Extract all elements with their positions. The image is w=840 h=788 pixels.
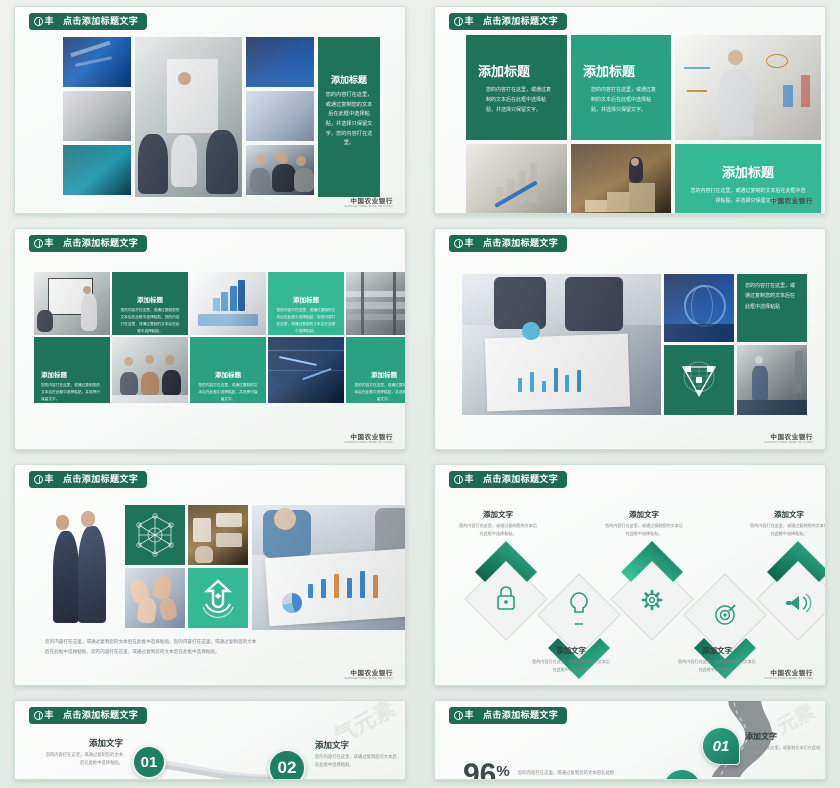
title-badge[interactable]: 丰 点击添加标题文字 bbox=[29, 235, 147, 252]
logo-char: 丰 bbox=[464, 711, 473, 720]
abc-bank-logo: 丰 bbox=[29, 471, 59, 488]
photo-whiteboard-sketch bbox=[675, 35, 821, 140]
card-body: 您的内容打在这里，或通过复制您的文本后在此框中选择粘贴，并选择只保留文字。 bbox=[41, 382, 103, 403]
slide-5-wrap: 丰 点击添加标题文字 bbox=[0, 458, 420, 694]
step-01-badge[interactable]: 01 bbox=[132, 745, 166, 779]
footer-cn: 中国农业银行 bbox=[765, 195, 813, 205]
footer-en: AGRICULTURAL BANK OF CHINA bbox=[345, 205, 393, 208]
label-body: 您的内容打在这里，或通过复制您的文本后在此框中选择粘贴。 bbox=[750, 522, 826, 537]
photo-presenter-meeting bbox=[135, 37, 242, 197]
photo-hand-city-tablet bbox=[246, 91, 314, 141]
step-01-text[interactable]: 添加文字 您的内容打在这里，或通过复制您的文本后在此框中选择粘贴。 bbox=[45, 737, 123, 767]
logo-char: 丰 bbox=[44, 17, 53, 26]
logo-ring-icon bbox=[34, 239, 43, 248]
card-title: 添加标题 bbox=[41, 369, 103, 379]
title-badge[interactable]: 丰 点击添加标题文字 bbox=[449, 13, 567, 30]
icon-abc-logo[interactable] bbox=[188, 568, 248, 628]
slide-title: 点击添加标题文字 bbox=[59, 235, 147, 252]
card-body: 您的内容打在这里，或通过复制的文本后在此框中选择粘贴，并选择只保留文字。 bbox=[478, 86, 555, 115]
label-body: 您的内容打在这里，或通过复制您的文本后在此框中选择粘贴。 bbox=[678, 658, 756, 673]
abc-logo-icon bbox=[196, 576, 240, 620]
label-3[interactable]: 添加文字 您的内容打在这里，或通过复制您的文本后在此框中选择粘贴。 bbox=[605, 509, 683, 537]
footer-en: AGRICULTURAL BANK OF CHINA bbox=[765, 205, 813, 208]
photo-worker-factory bbox=[737, 345, 807, 415]
slide-3[interactable]: 丰 点击添加标题文字 添加标题 您的内容打在这里，或通过复制您的文本后在此框中选… bbox=[14, 228, 406, 450]
card-title-1[interactable]: 添加标题 您的内容打在这里，或通过复制的文本后在此框中选择粘贴，并选择只保留文字… bbox=[466, 35, 567, 140]
slide-3-wrap: 丰 点击添加标题文字 添加标题 您的内容打在这里，或通过复制您的文本后在此框中选… bbox=[0, 222, 420, 458]
stat-unit: % bbox=[496, 763, 509, 780]
footer-cn: 中国农业银行 bbox=[345, 667, 393, 677]
logo-ring-icon bbox=[34, 17, 43, 26]
photo-desk-charts-meeting bbox=[462, 274, 661, 415]
step-title: 添加文字 bbox=[45, 737, 123, 749]
slide-5[interactable]: 丰 点击添加标题文字 bbox=[14, 464, 406, 686]
slide-1-wrap: 丰 点击添加标题文字 bbox=[0, 0, 420, 222]
photo-arrow-chart-blue bbox=[246, 37, 314, 87]
card-title-b[interactable]: 添加标题 您的内容打在这里，或通过复制的文本后在此框中选择粘贴，您的内容打在这里… bbox=[268, 272, 344, 335]
label-title: 添加文字 bbox=[532, 645, 610, 656]
logo-ring-icon bbox=[34, 475, 43, 484]
footer-cn: 中国农业银行 bbox=[345, 195, 393, 205]
icon-network-hex[interactable] bbox=[125, 505, 185, 565]
card-title-a[interactable]: 添加标题 您的内容打在这里，或通过复制您的文本后在此框中选择粘贴，您的内容打在这… bbox=[112, 272, 188, 335]
card-title-e[interactable]: 添加标题 您的内容打在这里，或通过复制的文本后在此框中选择粘贴，并选择只保留文字… bbox=[346, 337, 406, 403]
slide-8-wrap: 丰 点击添加标题文字 01 添加文字 您的内容打在这里，或复制文本后在此粘贴。 … bbox=[420, 694, 840, 788]
logo-char: 丰 bbox=[44, 711, 53, 720]
slide-deck-page: 丰 点击添加标题文字 bbox=[0, 0, 840, 788]
card-title: 添加标题 bbox=[197, 369, 259, 379]
card-body: 您的内容打在这里，或通过复制您的文本后在此框中选择粘贴，您的内容打在这里，或通过… bbox=[119, 307, 181, 335]
label-4[interactable]: 添加文字 您的内容打在这里，或通过复制您的文本后在此框中选择粘贴。 bbox=[678, 645, 756, 673]
photo-classroom-whiteboard bbox=[34, 272, 110, 335]
step-02-text[interactable]: 添加文字 您的内容打在这里，或通过复制您的文本后在此框中选择粘贴。 bbox=[315, 739, 399, 769]
photo-bar-chart-money bbox=[190, 272, 266, 335]
logo-char: 丰 bbox=[44, 239, 53, 248]
label-body: 您的内容打在这里，或通过复制您的文本后在此框中选择粘贴。 bbox=[532, 658, 610, 673]
footer-cn: 中国农业银行 bbox=[765, 667, 813, 677]
label-2[interactable]: 添加文字 您的内容打在这里，或通过复制您的文本后在此框中选择粘贴。 bbox=[532, 645, 610, 673]
slide-title: 点击添加标题文字 bbox=[479, 235, 567, 252]
photo-blue-globe-network bbox=[664, 274, 734, 342]
logo-char: 丰 bbox=[464, 239, 473, 248]
card-body: 您的内容打在这里，或通过复制的文本后在此框中选择粘贴，您的内容打在这里，或通过复… bbox=[275, 307, 337, 335]
card-shield-icon[interactable] bbox=[664, 345, 734, 415]
label-title: 添加文字 bbox=[459, 509, 537, 520]
photo-blue-abstract bbox=[63, 37, 131, 87]
slide-caption: 您的内容打在这里，或通过复制您的文本后在此框中选择粘贴。您的内容打在这里，或通过… bbox=[45, 637, 257, 656]
title-badge[interactable]: 丰 点击添加标题文字 bbox=[29, 13, 147, 30]
step-number: 01 bbox=[141, 754, 158, 771]
photo-arrow-growth-chart bbox=[466, 144, 567, 214]
footer-cn: 中国农业银行 bbox=[345, 431, 393, 441]
card-title: 添加标题 bbox=[689, 162, 807, 181]
slide-4-wrap: 丰 点击添加标题文字 bbox=[420, 222, 840, 458]
marker-body: 您的内容打在这里，或复制文本后在此粘贴。 bbox=[745, 744, 823, 760]
label-5[interactable]: 添加文字 您的内容打在这里，或通过复制您的文本后在此框中选择粘贴。 bbox=[750, 509, 826, 537]
abc-bank-logo: 丰 bbox=[29, 707, 59, 724]
label-body: 您的内容打在这里，或通过复制您的文本后在此框中选择粘贴。 bbox=[459, 522, 537, 537]
card-title-c[interactable]: 添加标题 您的内容打在这里，或通过复制您的文本后在此框中选择粘贴，并选择只保留文… bbox=[34, 337, 110, 403]
card-title: 添加标题 bbox=[119, 294, 181, 304]
logo-char: 丰 bbox=[464, 475, 473, 484]
photo-tablet-teal bbox=[63, 145, 131, 195]
slide-1[interactable]: 丰 点击添加标题文字 bbox=[14, 6, 406, 214]
footer-en: AGRICULTURAL BANK OF CHINA bbox=[765, 677, 813, 680]
slide-title: 点击添加标题文字 bbox=[479, 471, 567, 488]
panel-title: 添加标题 bbox=[325, 73, 373, 86]
footer-cn: 中国农业银行 bbox=[765, 431, 813, 441]
title-badge[interactable]: 丰 点击添加标题文字 bbox=[29, 707, 147, 724]
logo-ring-icon bbox=[34, 711, 43, 720]
slide-4[interactable]: 丰 点击添加标题文字 bbox=[434, 228, 826, 450]
footer-logo: 中国农业银行 AGRICULTURAL BANK OF CHINA bbox=[765, 195, 813, 209]
step-body: 您的内容打在这里，或通过复制您的文本后在此框中选择粘贴。 bbox=[315, 753, 399, 769]
slide-title: 点击添加标题文字 bbox=[59, 13, 147, 30]
slide-title: 点击添加标题文字 bbox=[479, 13, 567, 30]
step-number: 02 bbox=[278, 758, 297, 778]
label-title: 添加文字 bbox=[750, 509, 826, 520]
marker-number: 02 bbox=[674, 780, 691, 781]
abc-bank-logo: 丰 bbox=[449, 471, 479, 488]
step-02-badge[interactable]: 02 bbox=[268, 749, 306, 780]
logo-ring-icon bbox=[454, 475, 463, 484]
slide-title: 点击添加标题文字 bbox=[59, 707, 147, 724]
step-body: 您的内容打在这里，或通过复制您的文本后在此框中选择粘贴。 bbox=[45, 751, 123, 767]
title-badge[interactable]: 丰 点击添加标题文字 bbox=[449, 471, 567, 488]
panel-body: 您的内容打在这里，或通过复制您的文本后在此框中选择粘贴，并选择只保留文字，您的内… bbox=[325, 91, 373, 149]
logo-ring-icon bbox=[454, 17, 463, 26]
logo-char: 丰 bbox=[44, 475, 53, 484]
label-1[interactable]: 添加文字 您的内容打在这里，或通过复制您的文本后在此框中选择粘贴。 bbox=[459, 509, 537, 537]
abc-bank-logo: 丰 bbox=[449, 13, 479, 30]
photo-business-team bbox=[246, 145, 314, 195]
title-badge[interactable]: 丰 点击添加标题文字 bbox=[449, 235, 567, 252]
slide-6-wrap: 丰 点击添加标题文字 bbox=[420, 458, 840, 694]
photo-team-meeting bbox=[112, 337, 188, 403]
slide-grid: 丰 点击添加标题文字 bbox=[0, 0, 840, 788]
footer-en: AGRICULTURAL BANK OF CHINA bbox=[345, 677, 393, 680]
abc-bank-logo: 丰 bbox=[449, 707, 479, 724]
card-title-d[interactable]: 添加标题 您的内容打在这里，或通过复制的文本后在此框中选择粘贴，并选择只保留文字… bbox=[190, 337, 266, 403]
photo-two-businessmen bbox=[45, 505, 121, 625]
photo-industrial-pipes bbox=[346, 272, 406, 335]
label-title: 添加文字 bbox=[605, 509, 683, 520]
card-body: 您的内容打在这里，或通过复制的文本后在此框中选择粘贴，并选择只保留文字。 bbox=[583, 86, 659, 115]
card-text-panel[interactable]: 您的内容打在这里，或通过复制您的文本后在此框中选择粘贴 bbox=[737, 274, 807, 342]
slide-7[interactable]: 丰 点击添加标题文字 添加文字 您的内容打在这里，或通过复制您的文本后在此框中选… bbox=[14, 700, 406, 780]
network-hex-icon bbox=[132, 512, 178, 558]
logo-ring-icon bbox=[454, 711, 463, 720]
logo-ring-icon bbox=[454, 239, 463, 248]
slide-2[interactable]: 丰 点击添加标题文字 添加标题 您的内容打在这里，或通过复制的文本后在此框中选择… bbox=[434, 6, 826, 214]
label-body: 您的内容打在这里，或通过复制您的文本后在此框中选择粘贴。 bbox=[605, 522, 683, 537]
footer-logo: 中国农业银行 AGRICULTURAL BANK OF CHINA bbox=[765, 667, 813, 681]
title-badge[interactable]: 丰 点击添加标题文字 bbox=[29, 471, 147, 488]
footer-logo: 中国农业银行 AGRICULTURAL BANK OF CHINA bbox=[345, 667, 393, 681]
photo-hand-interface bbox=[188, 505, 248, 565]
marker-number: 01 bbox=[713, 738, 730, 755]
stat-body: 您的内容打在这里，或通过复制您的文本后在此框中选择粘贴 bbox=[518, 769, 618, 780]
label-title: 添加文字 bbox=[678, 645, 756, 656]
footer-logo: 中国农业银行 AGRICULTURAL BANK OF CHINA bbox=[345, 195, 393, 209]
photo-thumbs-up bbox=[125, 568, 185, 628]
stat-value: 96 bbox=[463, 761, 496, 780]
slide-2-wrap: 丰 点击添加标题文字 添加标题 您的内容打在这里，或通过复制的文本后在此框中选择… bbox=[420, 0, 840, 222]
card-title: 添加标题 bbox=[353, 369, 406, 379]
photo-man-climbing-books bbox=[571, 144, 671, 214]
card-title: 添加标题 bbox=[583, 61, 659, 80]
slide-6[interactable]: 丰 点击添加标题文字 bbox=[434, 464, 826, 686]
card-title: 添加标题 bbox=[275, 294, 337, 304]
card-body: 您的内容打在这里，或通过复制的文本后在此框中选择粘贴，并选择只保留文字。 bbox=[197, 382, 259, 403]
shield-grid-icon bbox=[677, 359, 721, 401]
marker-01[interactable]: 01 bbox=[702, 727, 740, 765]
logo-char: 丰 bbox=[464, 17, 473, 26]
abc-bank-logo: 丰 bbox=[29, 235, 59, 252]
photo-handshake-gray bbox=[63, 91, 131, 141]
card-body: 您的内容打在这里，或通过复制您的文本后在此框中选择粘贴 bbox=[745, 281, 799, 312]
footer-en: AGRICULTURAL BANK OF CHINA bbox=[765, 441, 813, 444]
text-panel-card[interactable]: 添加标题 您的内容打在这里，或通过复制您的文本后在此框中选择粘贴，并选择只保留文… bbox=[318, 37, 380, 197]
footer-logo: 中国农业银行 AGRICULTURAL BANK OF CHINA bbox=[345, 431, 393, 445]
card-title: 添加标题 bbox=[478, 61, 555, 80]
footer-en: AGRICULTURAL BANK OF CHINA bbox=[345, 441, 393, 444]
title-badge[interactable]: 丰 点击添加标题文字 bbox=[449, 707, 567, 724]
card-body: 您的内容打在这里，或通过复制的文本后在此框中选择粘贴，并选择只保留文字。 bbox=[353, 382, 406, 403]
footer-logo: 中国农业银行 AGRICULTURAL BANK OF CHINA bbox=[765, 431, 813, 445]
slide-7-wrap: 丰 点击添加标题文字 添加文字 您的内容打在这里，或通过复制您的文本后在此框中选… bbox=[0, 694, 420, 788]
abc-bank-logo: 丰 bbox=[449, 235, 479, 252]
slide-title: 点击添加标题文字 bbox=[479, 707, 567, 724]
photo-report-reading bbox=[252, 505, 406, 630]
card-title-2[interactable]: 添加标题 您的内容打在这里，或通过复制的文本后在此框中选择粘贴，并选择只保留文字… bbox=[571, 35, 671, 140]
slide-8[interactable]: 丰 点击添加标题文字 01 添加文字 您的内容打在这里，或复制文本后在此粘贴。 … bbox=[434, 700, 826, 780]
abc-bank-logo: 丰 bbox=[29, 13, 59, 30]
slide-title: 点击添加标题文字 bbox=[59, 471, 147, 488]
stat-block: 96 % 您的内容打在这里，或通过复制您的文本后在此框中选择粘贴 bbox=[463, 761, 618, 780]
photo-blue-data-lines bbox=[268, 337, 344, 403]
